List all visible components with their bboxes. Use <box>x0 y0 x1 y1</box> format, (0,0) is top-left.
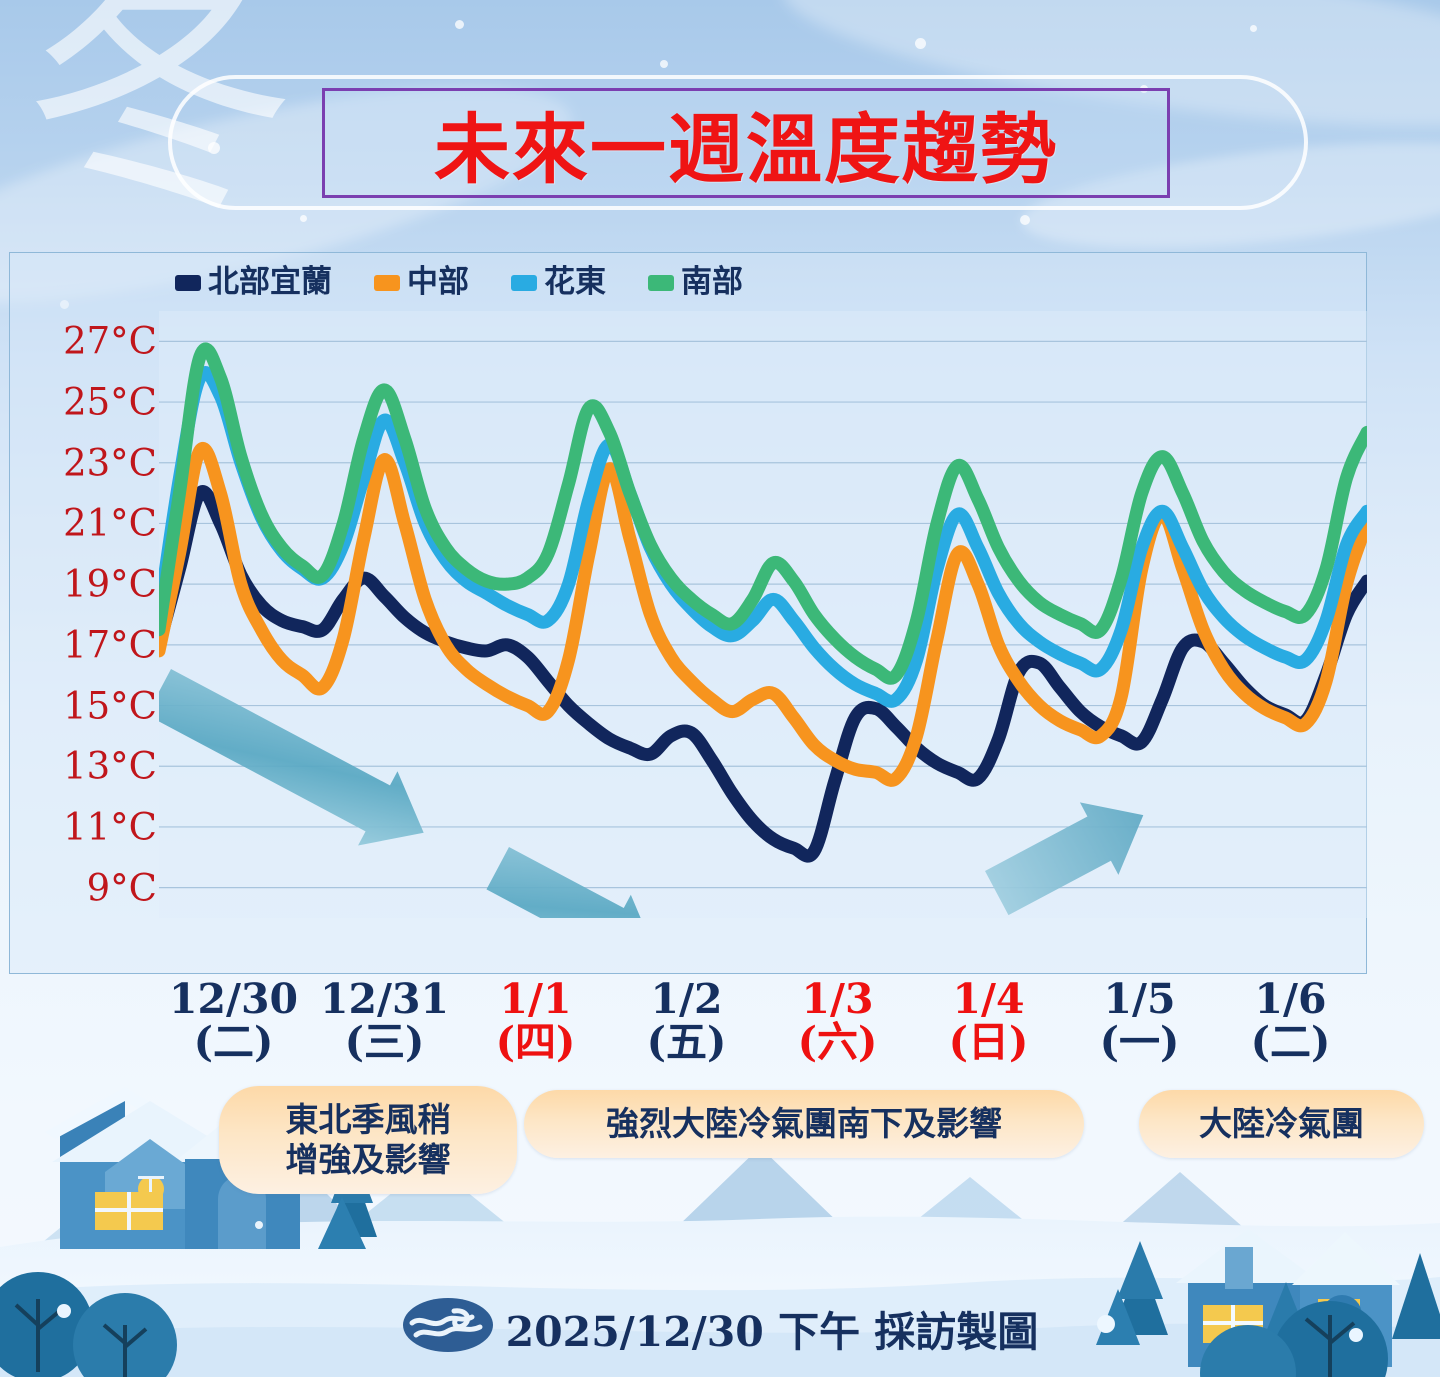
winter-watermark-character: 冬 <box>24 0 297 226</box>
snowflake-dot <box>1020 215 1030 225</box>
legend-swatch-navy <box>175 275 201 291</box>
legend-swatch-orange <box>374 275 400 291</box>
pill-line: 強烈大陸冷氣團南下及影響 <box>606 1104 1002 1144</box>
footer: 2025/12/30 下午 採訪製圖 <box>0 1295 1440 1360</box>
y-axis-tick-label: 27°C <box>63 323 157 360</box>
y-axis-tick-label: 25°C <box>63 384 157 421</box>
legend-label: 中部 <box>407 267 469 298</box>
pill-line: 增強及影響 <box>286 1140 451 1180</box>
y-axis-tick-label: 13°C <box>63 748 157 785</box>
legend-item-south[interactable]: 南部 <box>648 267 743 298</box>
snowflake-dot <box>208 142 220 154</box>
y-axis-tick-label: 19°C <box>63 566 157 603</box>
legend-item-hualien-taitung[interactable]: 花東 <box>511 267 606 298</box>
x-tick-weekday: (二) <box>1201 1021 1381 1064</box>
x-tick-date: 1/6 <box>1201 978 1381 1021</box>
weather-annotation-pills: 東北季風稍 增強及影響 強烈大陸冷氣團南下及影響 大陸冷氣團 <box>0 1088 1440 1193</box>
x-axis-tick-1-6: 1/6(二) <box>1201 978 1381 1065</box>
temperature-trend-chart: 北部宜蘭 中部 花東 南部 27°C25°C23°C21°C19°C17°C15… <box>9 252 1367 974</box>
legend-label: 北部宜蘭 <box>208 267 332 298</box>
chart-plot-area <box>159 311 1367 918</box>
footer-timestamp: 2025/12/30 下午 採訪製圖 <box>506 1298 1039 1358</box>
legend-swatch-green <box>648 275 674 291</box>
page-title-box: 未來一週溫度趨勢 <box>322 88 1170 198</box>
cwa-wave-logo-icon <box>402 1295 494 1360</box>
snowflake-dot <box>1250 25 1257 32</box>
legend-item-north-yilan[interactable]: 北部宜蘭 <box>175 267 332 298</box>
annotation-pill-strong-cold-air-mass: 強烈大陸冷氣團南下及影響 <box>524 1090 1084 1158</box>
legend-swatch-cyan <box>511 275 537 291</box>
y-axis-tick-label: 15°C <box>63 687 157 724</box>
snowflake-dot <box>660 60 668 68</box>
y-axis-tick-label: 17°C <box>63 626 157 663</box>
y-axis-tick-label: 21°C <box>63 505 157 542</box>
legend-label: 花東 <box>544 267 606 298</box>
page-title: 未來一週溫度趨勢 <box>434 88 1058 198</box>
x-axis-labels: 12/30(二)12/31(三)1/1(四)1/2(五)1/3(六)1/4(日)… <box>0 978 1440 1078</box>
y-axis-tick-label: 23°C <box>63 444 157 481</box>
chart-legend: 北部宜蘭 中部 花東 南部 <box>175 267 743 298</box>
snowflake-dot <box>455 20 464 29</box>
annotation-pill-northeast-monsoon: 東北季風稍 增強及影響 <box>219 1086 517 1194</box>
y-axis-labels: 27°C25°C23°C21°C19°C17°C15°C13°C11°C9°C <box>10 253 160 975</box>
y-axis-tick-label: 11°C <box>63 808 157 845</box>
pill-line: 東北季風稍 <box>286 1100 451 1140</box>
y-axis-tick-label: 9°C <box>87 869 157 906</box>
pill-line: 大陸冷氣團 <box>1199 1104 1364 1144</box>
snowflake-dot <box>915 38 926 49</box>
snowflake-dot <box>300 215 307 222</box>
legend-label: 南部 <box>681 267 743 298</box>
annotation-pill-continental-cold-air: 大陸冷氣團 <box>1139 1090 1424 1158</box>
legend-item-central[interactable]: 中部 <box>374 267 469 298</box>
